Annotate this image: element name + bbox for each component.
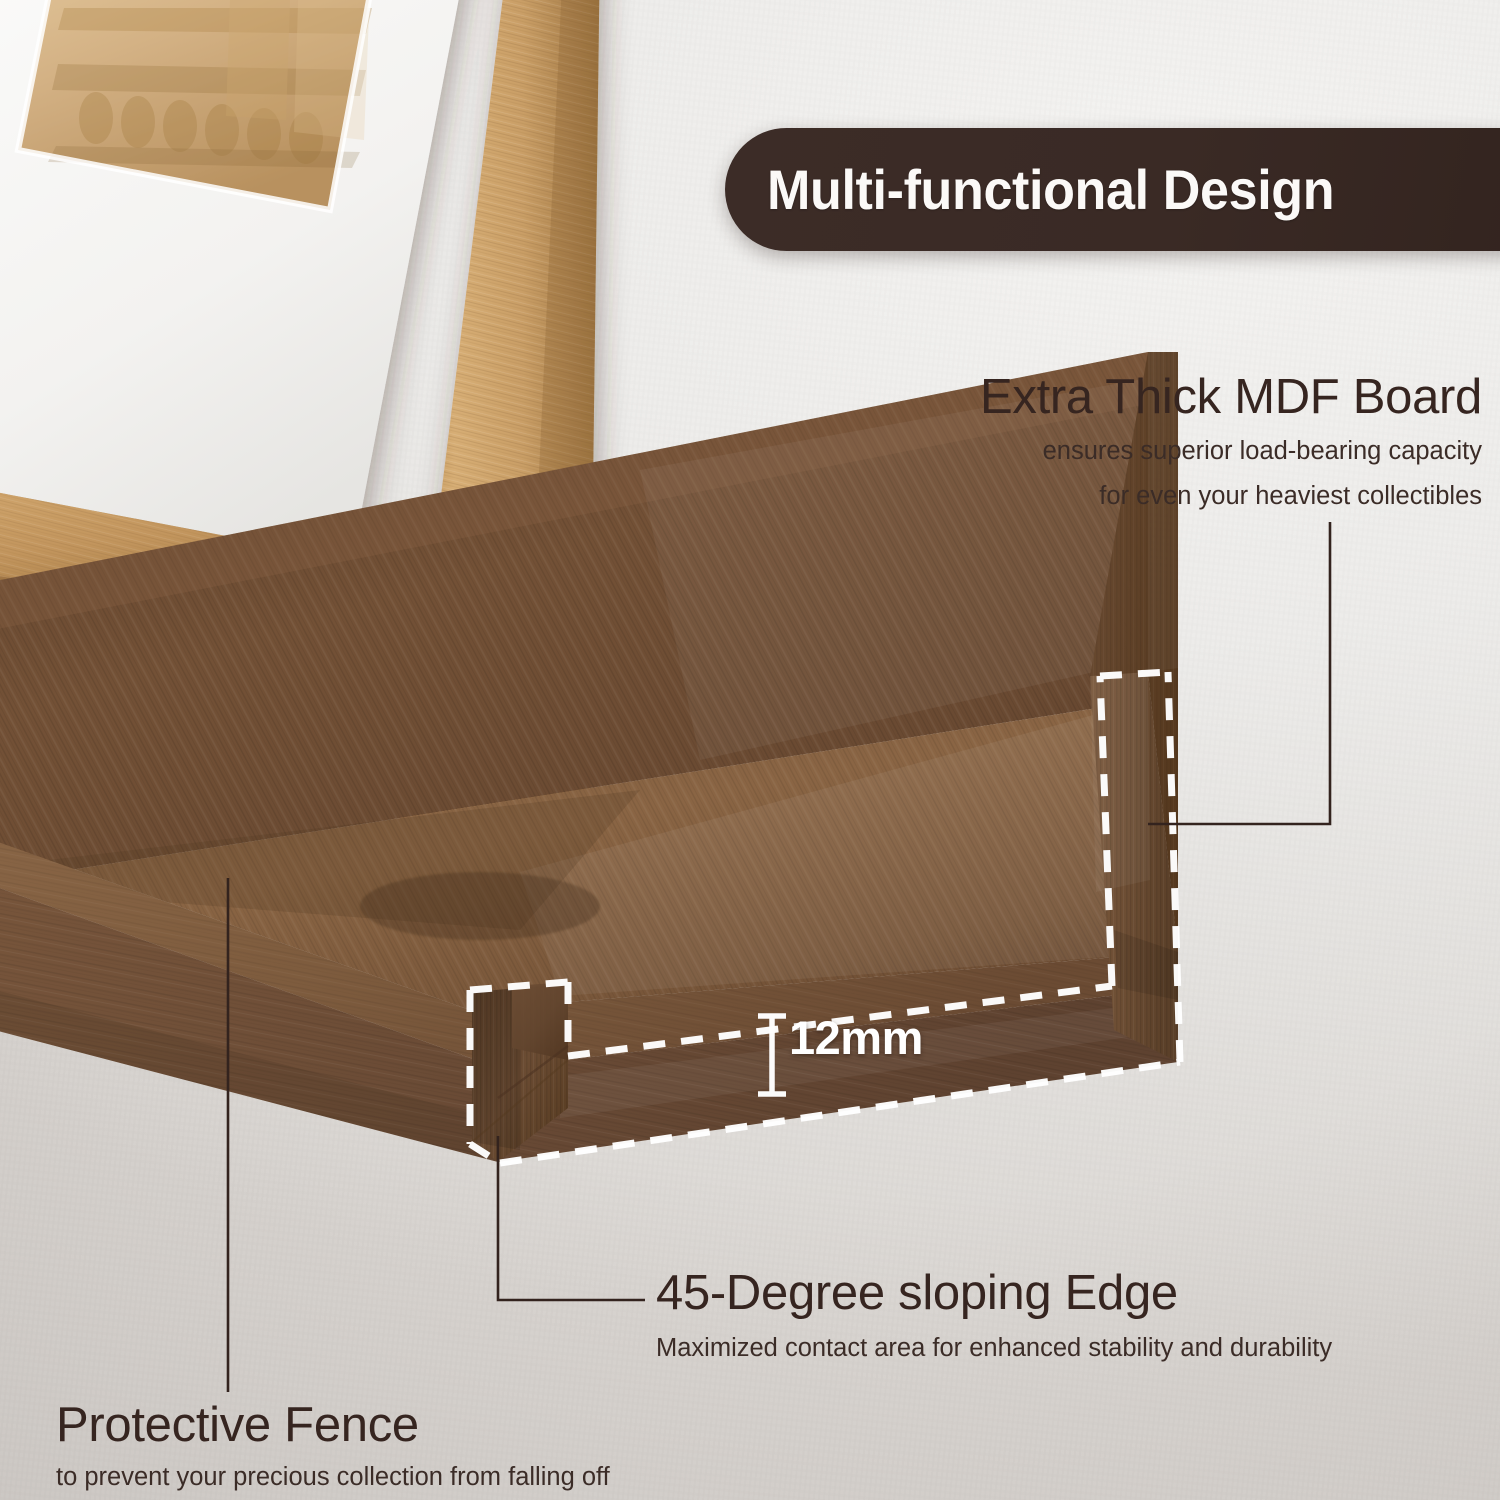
callout-slope-subtitle: Maximized contact area for enhanced stab… <box>656 1332 1332 1365</box>
callout-sloping-edge: 45-Degree sloping Edge Maximized contact… <box>656 1268 1332 1365</box>
callout-fence-subtitle: to prevent your precious collection from… <box>56 1461 610 1494</box>
callout-mdf-subtitle-line1: ensures superior load-bearing capacity <box>980 435 1482 468</box>
callout-mdf-subtitle-line2: for even your heaviest collectibles <box>980 480 1482 513</box>
frame-contact-shadow <box>360 872 600 940</box>
dimension-label-12mm: 12mm <box>789 1014 923 1061</box>
callout-protective-fence: Protective Fence to prevent your preciou… <box>56 1400 610 1494</box>
callout-slope-title: 45-Degree sloping Edge <box>656 1268 1332 1319</box>
callout-mdf-title: Extra Thick MDF Board <box>980 372 1482 423</box>
header-banner: Multi-functional Design <box>725 128 1500 251</box>
header-banner-title: Multi-functional Design <box>767 162 1334 218</box>
infographic-canvas: Multi-functional Design Extra Thick MDF … <box>0 0 1500 1500</box>
callout-fence-title: Protective Fence <box>56 1400 610 1451</box>
frame-mat-and-photo <box>0 0 470 560</box>
callout-mdf-board: Extra Thick MDF Board ensures superior l… <box>980 372 1482 512</box>
